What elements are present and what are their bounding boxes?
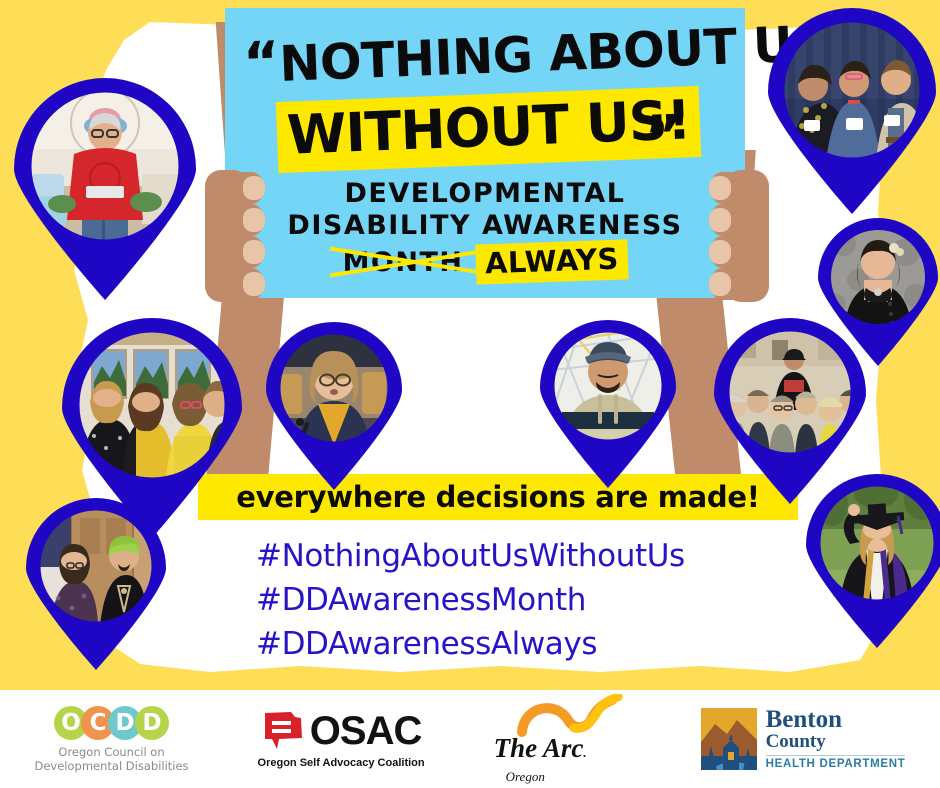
pin-graduate[interactable] [806,474,940,648]
benton-row: Benton County HEALTH DEPARTMENT [701,707,906,771]
protest-sign: “NOTHING ABOUT US WITHOUT US! ” DEVELOPM… [225,8,745,298]
pin-three-people-conference[interactable] [768,8,936,214]
pin-marker-shape [540,320,676,488]
struck-word-month: MONTH [343,247,464,278]
sign-subhead-line2: DISABILITY AWARENESS [225,210,745,241]
benton-divider [766,755,906,756]
sign-subhead-line3: MONTH ALWAYS [225,242,745,282]
pin-marker-shape [14,78,196,300]
sign-headline-line2-wrap: WITHOUT US! [276,86,702,173]
the-arc-trademark: . [583,745,586,760]
ocdd-caption: Oregon Council on Developmental Disabili… [34,745,188,773]
close-quote-glyph: ” [644,103,683,169]
benton-line3: HEALTH DEPARTMENT [766,759,906,771]
pin-man-striped-sweater[interactable] [540,320,676,488]
pin-marker-shape [26,498,166,670]
benton-line1: Benton [766,707,906,732]
replacement-word-always: ALWAYS [475,239,628,284]
logo-the-arc[interactable]: The Arc. Oregon [494,694,632,785]
the-arc-swoosh-icon [512,694,632,738]
sign-headline-line1: “NOTHING ABOUT US [242,13,728,97]
pin-marker-shape [806,474,940,648]
benton-mountain-barn-trees-icon [701,708,757,770]
right-hand-icon [703,170,769,302]
the-arc-subtitle: Oregon [506,769,545,785]
logo-ocdd[interactable]: O C D D Oregon Council on Developmental … [34,706,188,773]
hashtag-list: #NothingAboutUsWithoutUs #DDAwarenessMon… [256,538,685,662]
benton-line2: County [766,732,906,751]
hashtag-item-3[interactable]: #DDAwarenessAlways [256,626,685,662]
pin-two-people-doorway[interactable] [26,498,166,670]
ocdd-caption-line1: Oregon Council on [34,745,188,759]
osac-oregon-speech-bubble-icon [261,710,305,752]
pin-woman-testifying[interactable] [266,322,402,490]
pin-man-red-hoodie[interactable] [14,78,196,300]
ocdd-dot-4: D [135,706,169,740]
logo-osac[interactable]: OSAC Oregon Self Advocacy Coalition [258,710,425,769]
sign-subhead-line1: DEVELOPMENTAL [225,178,745,209]
osac-caption: Oregon Self Advocacy Coalition [258,757,425,769]
left-hand-icon [205,170,271,302]
sign-headline-line2-text: WITHOUT US! [276,86,702,173]
pin-marker-shape [266,322,402,490]
sign-headline-line1-text: NOTHING ABOUT US [278,15,828,93]
osac-wordmark: OSAC [310,711,422,751]
osac-row: OSAC [261,710,422,752]
hashtag-item-1[interactable]: #NothingAboutUsWithoutUs [256,538,685,574]
ocdd-dots: O C D D [54,706,169,740]
ocdd-caption-line2: Developmental Disabilities [34,759,188,773]
poster-canvas: “NOTHING ABOUT US WITHOUT US! ” DEVELOPM… [0,0,940,788]
hashtag-item-2[interactable]: #DDAwarenessMonth [256,582,685,618]
partner-logo-bar: O C D D Oregon Council on Developmental … [0,688,940,788]
the-arc-name-text: The Arc [494,733,584,763]
the-arc-wordmark: The Arc. [494,734,587,767]
pin-marker-shape [768,8,936,214]
logo-benton-county[interactable]: Benton County HEALTH DEPARTMENT [701,707,906,771]
open-quote-glyph: “ [242,30,281,96]
benton-text: Benton County HEALTH DEPARTMENT [766,707,906,771]
